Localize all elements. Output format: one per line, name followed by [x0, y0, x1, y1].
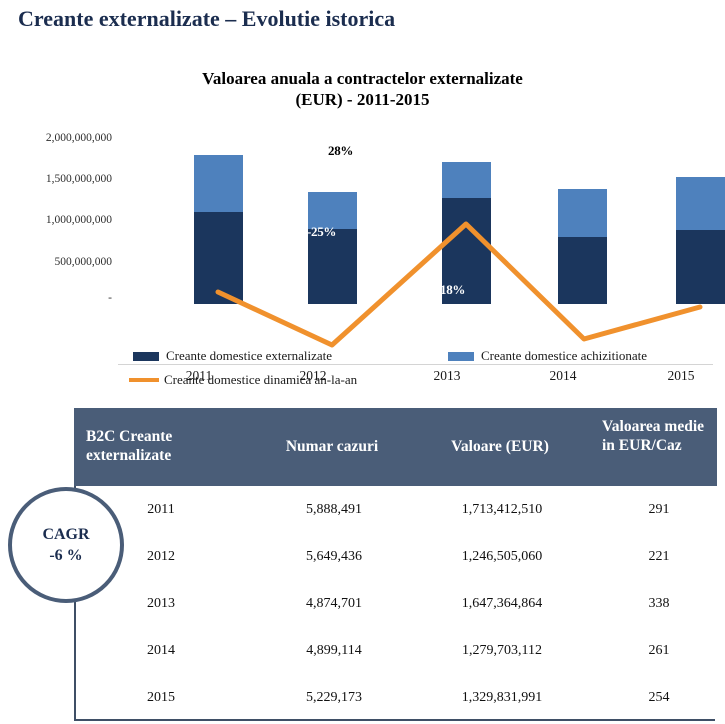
chart-legend: Creante domestice externalizate Creante … [0, 346, 725, 392]
dynamics-line-series [118, 120, 713, 368]
y-tick-1500000000: 1,500,000,000 [0, 173, 112, 185]
y-axis: 2,000,000,000 1,500,000,000 1,000,000,00… [0, 132, 112, 312]
cell-cases: 4,899,114 [254, 627, 414, 674]
table-header-row: B2C Creante externalizate Numar cazuri V… [74, 408, 717, 486]
legend-label-dinamica: Creante domestice dinamica an-la-an [164, 372, 357, 388]
table-row[interactable]: 2015 5,229,173 1,329,831,991 254 [76, 674, 717, 721]
data-label-2014: -18% [436, 282, 465, 298]
table-header-valoare-medie: Valoarea medie in EUR/Caz [602, 417, 712, 455]
cell-value: 1,329,831,991 [422, 674, 582, 721]
data-label-2012: -25% [307, 224, 336, 240]
cell-year: 2015 [86, 674, 236, 721]
table-header-b2c: B2C Creante externalizate [86, 427, 246, 465]
cell-avg: 338 [604, 580, 714, 627]
y-tick-1000000000: 1,000,000,000 [0, 214, 112, 226]
legend-swatch-icon-achizitionate [448, 352, 474, 361]
cell-avg: 291 [604, 486, 714, 533]
table-row[interactable]: 2013 4,874,701 1,647,364,864 338 [76, 580, 717, 627]
table-header-valoare: Valoare (EUR) [420, 437, 580, 456]
cell-avg: 254 [604, 674, 714, 721]
cell-avg: 261 [604, 627, 714, 674]
chart-title-line-2: (EUR) - 2011-2015 [0, 89, 725, 110]
legend-item-dinamica[interactable]: Creante domestice dinamica an-la-an [129, 372, 357, 388]
chart-container: Valoarea anuala a contractelor externali… [0, 60, 725, 395]
data-label-2013: 28% [328, 143, 353, 159]
cagr-value: -6 % [49, 545, 82, 566]
cagr-badge: CAGR -6 % [8, 487, 124, 603]
legend-label-externalizate: Creante domestice externalizate [166, 348, 332, 364]
table-row[interactable]: 2014 4,899,114 1,279,703,112 261 [76, 627, 717, 674]
data-table: B2C Creante externalizate Numar cazuri V… [74, 408, 717, 724]
legend-item-achizitionate[interactable]: Creante domestice achizitionate [448, 348, 647, 364]
table-row[interactable]: 2011 5,888,491 1,713,412,510 291 [76, 486, 717, 533]
legend-item-externalizate[interactable]: Creante domestice externalizate [133, 348, 332, 364]
cell-avg: 221 [604, 533, 714, 580]
cell-value: 1,279,703,112 [422, 627, 582, 674]
chart-title-line-1: Valoarea anuala a contractelor externali… [0, 68, 725, 89]
cell-cases: 5,888,491 [254, 486, 414, 533]
page-title: Creante externalizate – Evolutie istoric… [18, 6, 395, 32]
table-header-numar-cazuri: Numar cazuri [252, 437, 412, 456]
y-tick-0: - [0, 292, 112, 304]
data-label-2015: 11% [624, 183, 648, 199]
legend-line-icon-dinamica [129, 378, 159, 382]
cell-cases: 4,874,701 [254, 580, 414, 627]
title-divider [0, 42, 725, 44]
legend-swatch-icon-externalizate [133, 352, 159, 361]
cell-value: 1,246,505,060 [422, 533, 582, 580]
table-row[interactable]: 2012 5,649,436 1,246,505,060 221 [76, 533, 717, 580]
y-tick-500000000: 500,000,000 [0, 256, 112, 268]
chart-title: Valoarea anuala a contractelor externali… [0, 68, 725, 110]
cagr-label: CAGR [42, 524, 89, 545]
table-body: 2011 5,888,491 1,713,412,510 291 2012 5,… [74, 486, 715, 721]
cell-cases: 5,229,173 [254, 674, 414, 721]
cell-value: 1,647,364,864 [422, 580, 582, 627]
cell-year: 2014 [86, 627, 236, 674]
y-tick-2000000000: 2,000,000,000 [0, 132, 112, 144]
cell-year: 2013 [86, 580, 236, 627]
cell-cases: 5,649,436 [254, 533, 414, 580]
cell-value: 1,713,412,510 [422, 486, 582, 533]
legend-label-achizitionate: Creante domestice achizitionate [481, 348, 647, 364]
